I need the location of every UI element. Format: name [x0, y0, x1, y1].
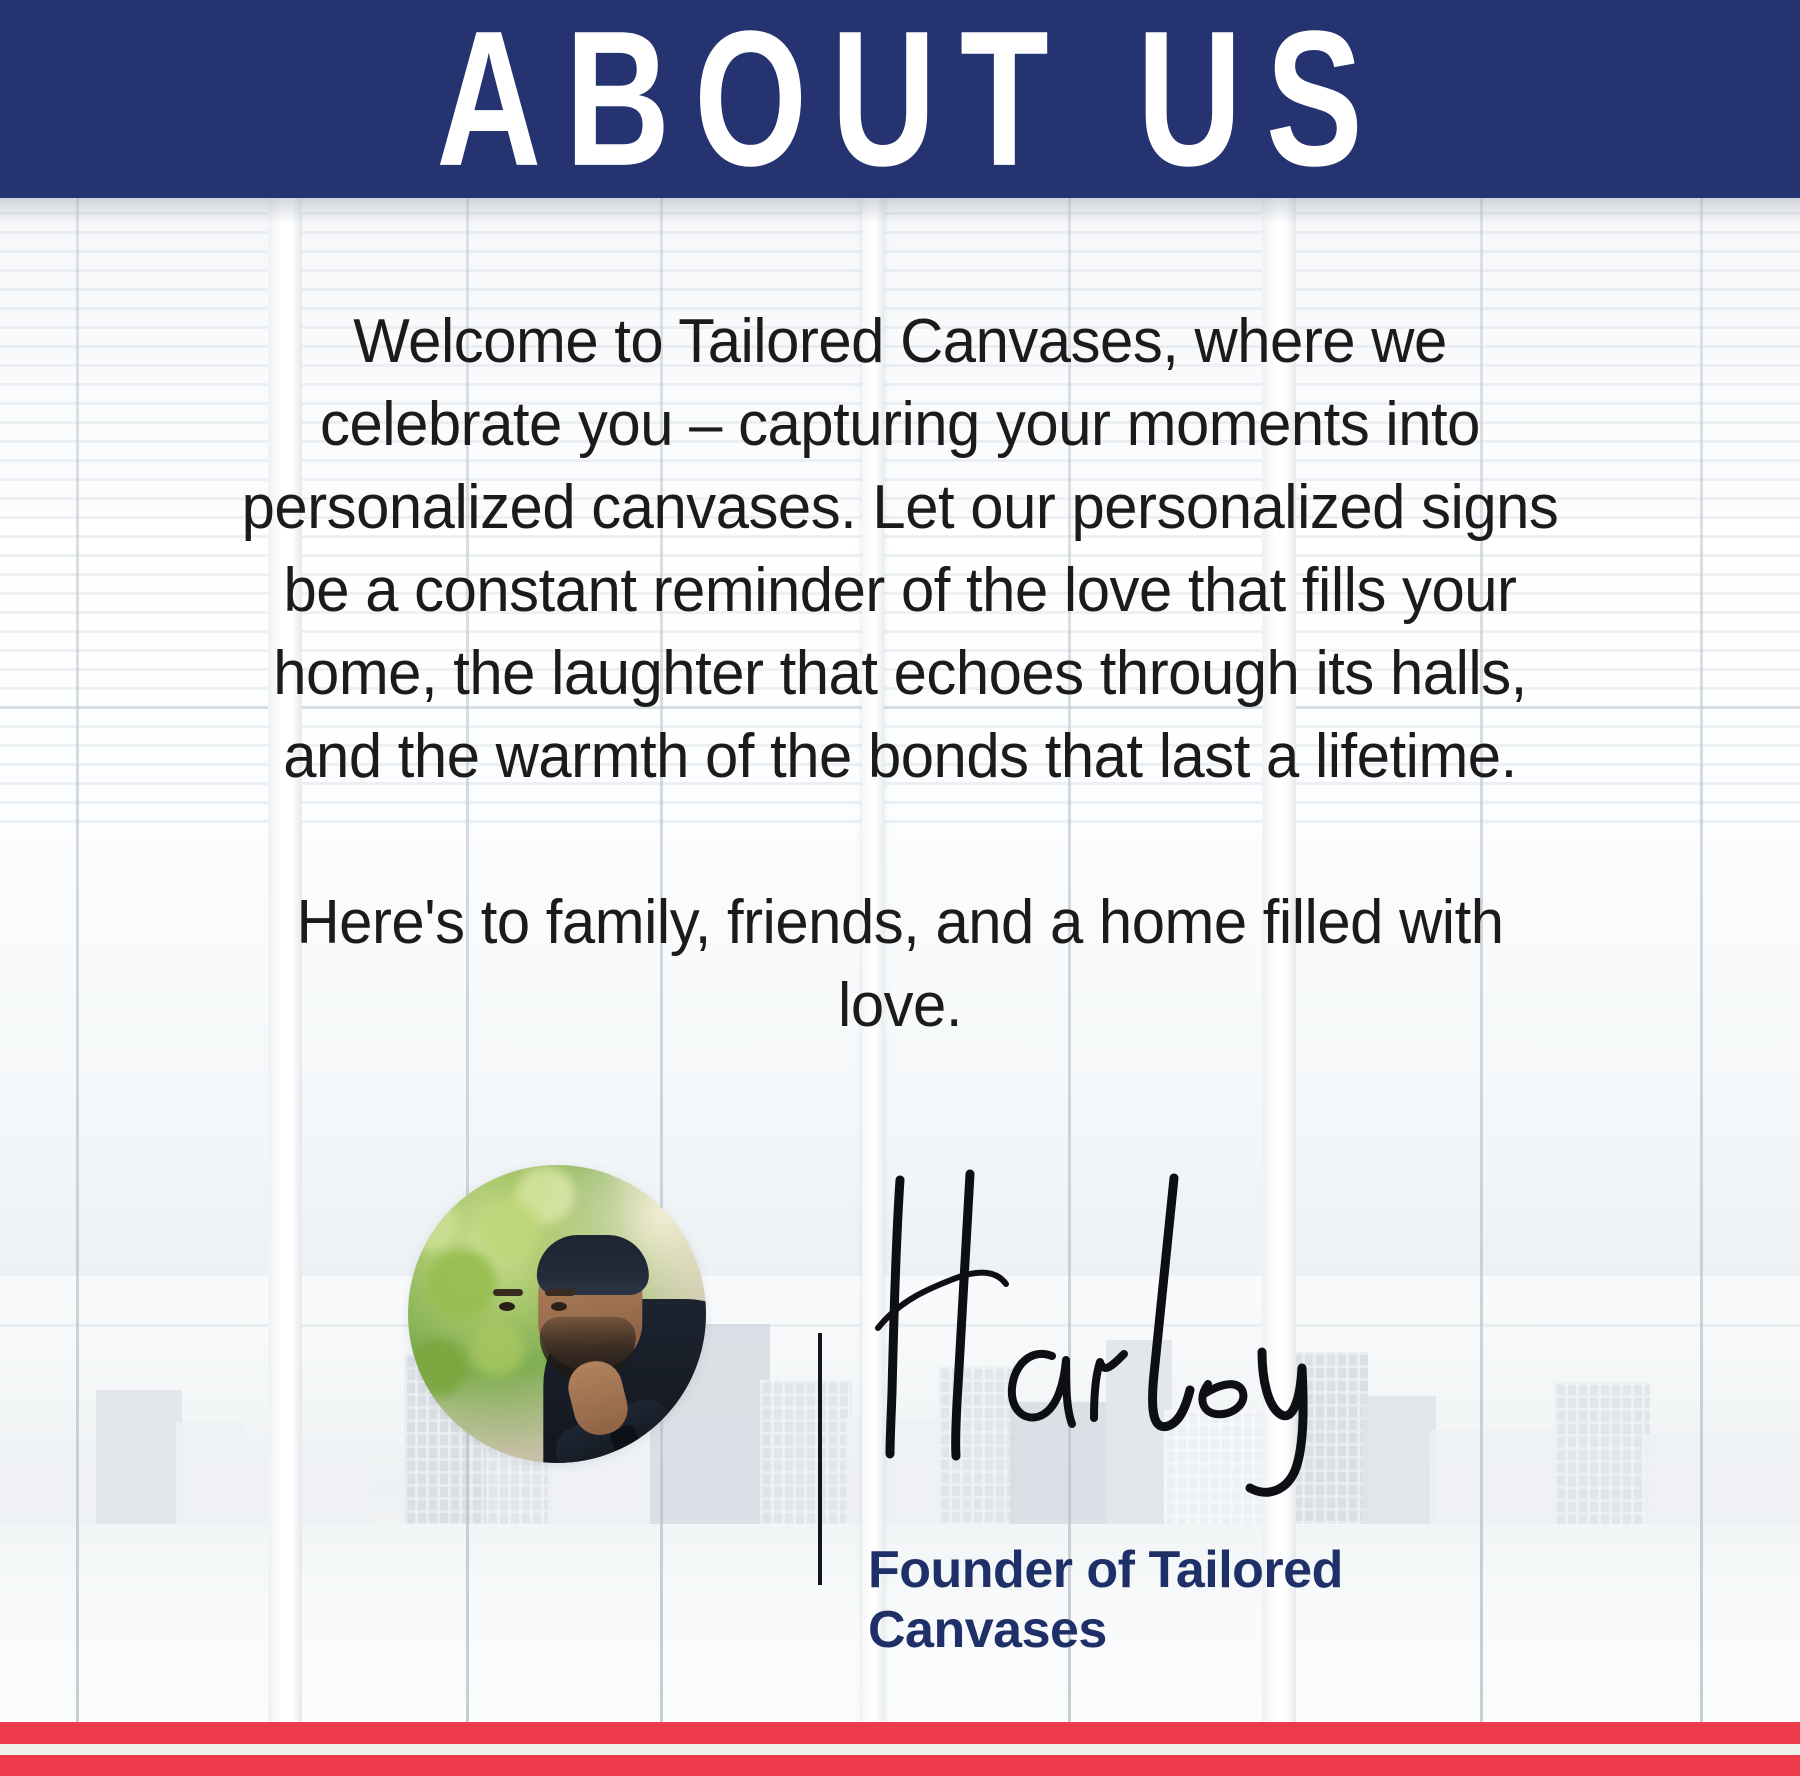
footer-stripe-gap — [0, 1744, 1800, 1755]
founder-caption: Founder of Tailored Canvases — [868, 1540, 1488, 1660]
signature-harley — [838, 1168, 1398, 1468]
avatar-eyebrow — [493, 1289, 523, 1296]
header-bar: ABOUT US — [0, 0, 1800, 198]
window-mullion — [76, 196, 79, 1776]
about-paragraph-1: Welcome to Tailored Canvases, where we c… — [234, 300, 1566, 798]
footer-stripe-bottom — [0, 1755, 1800, 1776]
founder-caption-line-2: Canvases — [868, 1600, 1488, 1660]
avatar-eye — [551, 1302, 567, 1311]
signature-divider — [818, 1333, 822, 1585]
founder-caption-line-1: Founder of Tailored — [868, 1540, 1488, 1600]
footer-stripe-top — [0, 1722, 1800, 1744]
avatar — [408, 1165, 706, 1463]
avatar-eyebrow — [545, 1289, 575, 1296]
avatar-hair — [537, 1235, 649, 1295]
page-title: ABOUT US — [413, 7, 1387, 190]
about-paragraph-2: Here's to family, friends, and a home fi… — [234, 881, 1566, 1047]
window-mullion — [1700, 196, 1703, 1776]
about-us-body: Welcome to Tailored Canvases, where we c… — [234, 300, 1566, 1047]
avatar-eye — [499, 1302, 515, 1311]
about-us-poster: ABOUT US Welcome to Tailored Canvases, w… — [0, 0, 1800, 1776]
